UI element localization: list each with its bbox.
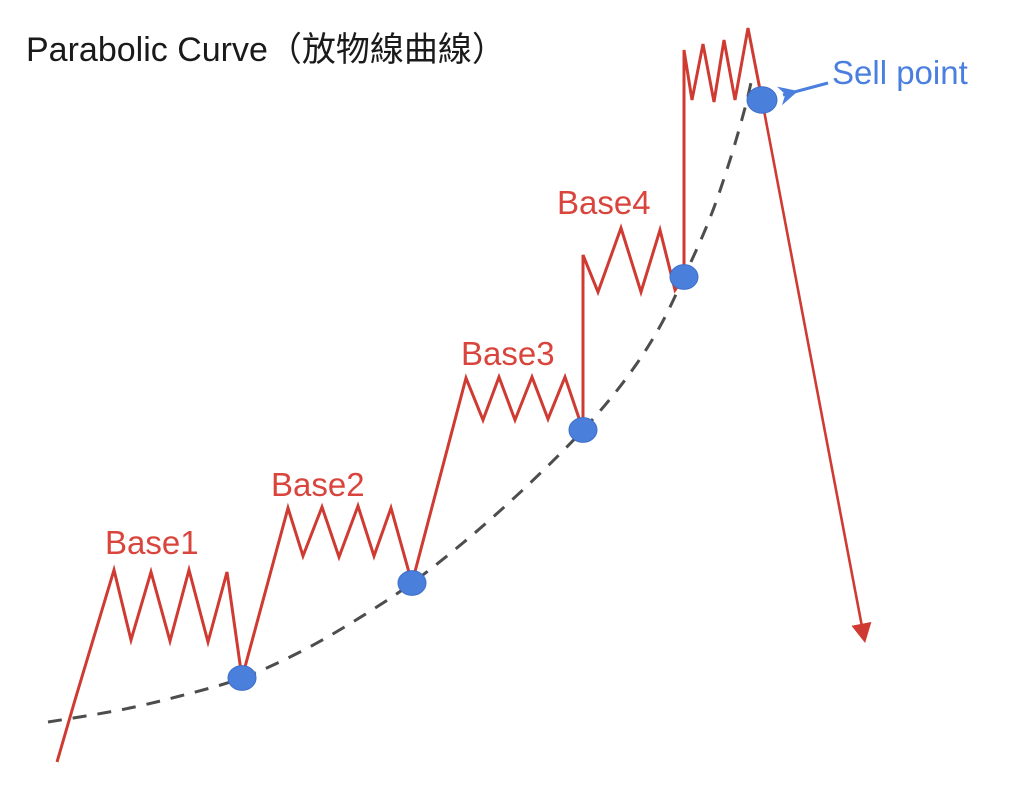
base4-label: Base4: [557, 184, 651, 222]
page-title: Parabolic Curve（放物線曲線）: [26, 22, 506, 71]
base2-label: Base2: [271, 466, 365, 504]
decline-arrow-line: [762, 100, 863, 632]
dashed-parabolic-trend-line: [48, 78, 752, 722]
base3-breakout-marker: [569, 418, 597, 443]
base4-breakout-marker: [670, 265, 698, 290]
dashed-parabolic-trend-group: [48, 78, 752, 722]
sell-point-callout-arrow: [783, 83, 828, 95]
base3-label: Base3: [461, 335, 555, 373]
sell-point-label: Sell point: [832, 54, 968, 92]
sell-point-marker: [747, 87, 777, 113]
base1-breakout-marker: [228, 666, 256, 691]
price-path-group: [57, 28, 863, 762]
base1-label: Base1: [105, 524, 199, 562]
parabolic-curve-chart: [0, 0, 1024, 789]
base2-breakout-marker: [398, 571, 426, 596]
red-price-zigzag-line: [57, 28, 762, 762]
parabolic-curve-figure: Parabolic Curve（放物線曲線） Base1 Base2 Base3…: [0, 0, 1024, 789]
